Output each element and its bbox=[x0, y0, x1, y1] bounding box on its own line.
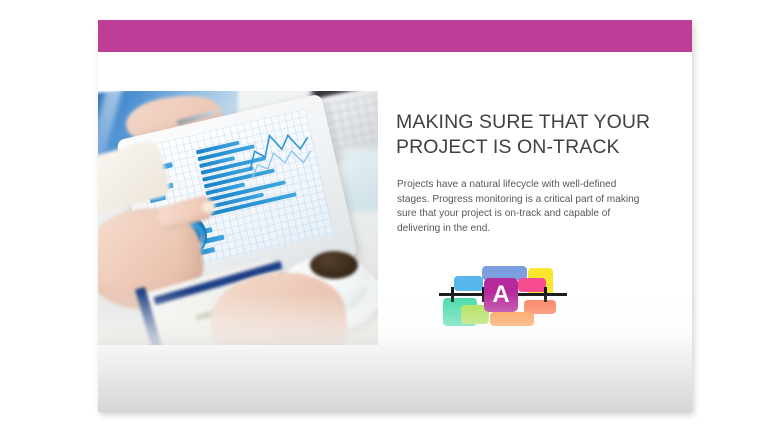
screenshot-canvas: MAKING SURE THAT YOUR PROJECT IS ON-TRAC… bbox=[0, 0, 770, 440]
photo-coffee-liquid bbox=[310, 251, 358, 279]
blue-small-task-bar bbox=[454, 276, 483, 291]
orange-task-bar bbox=[490, 312, 534, 326]
photo-bottom-shading bbox=[98, 289, 378, 345]
slide-photo-tablet-meeting bbox=[98, 91, 378, 345]
photo-water-glass bbox=[344, 149, 378, 211]
pink-task-bar bbox=[518, 278, 546, 292]
timeline-milestone-a-tile: A bbox=[484, 278, 518, 312]
project-timeline-graphic: A bbox=[433, 260, 573, 332]
timeline-tick bbox=[451, 287, 454, 302]
slide-title: MAKING SURE THAT YOUR PROJECT IS ON-TRAC… bbox=[396, 110, 658, 160]
presentation-slide: MAKING SURE THAT YOUR PROJECT IS ON-TRAC… bbox=[98, 20, 692, 412]
slide-header-band bbox=[98, 20, 692, 52]
slide-body-text: Projects have a natural lifecycle with w… bbox=[397, 178, 645, 236]
timeline-tick bbox=[544, 287, 547, 302]
